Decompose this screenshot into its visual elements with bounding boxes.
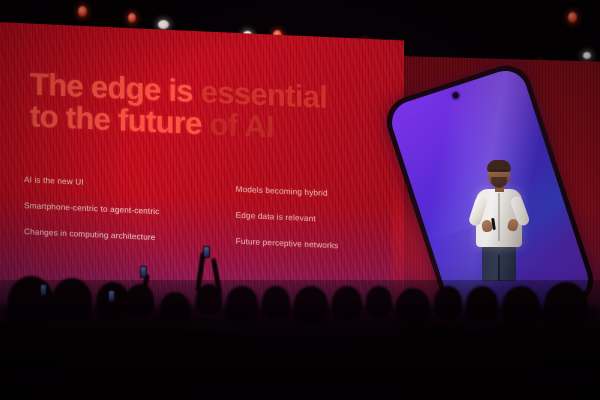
headline-line2-bright: to the future: [30, 98, 202, 141]
bullet-item: Smartphone-centric to agent-centric: [24, 201, 218, 219]
slide-headline: The edge is essential to the future of A…: [30, 68, 360, 147]
stage-light-red: [78, 6, 87, 17]
bullet-item: Edge data is relevant: [236, 211, 374, 226]
bullet-item: Models becoming hybrid: [236, 185, 374, 200]
stage-light-red: [568, 12, 577, 23]
glasses-icon: [489, 170, 509, 176]
headline-line2-dim: of AI: [202, 106, 274, 144]
keynote-stage-photo: The edge is essential to the future of A…: [0, 0, 600, 400]
bullet-item: AI is the new UI: [24, 175, 218, 193]
stage-light-white: [583, 52, 591, 59]
stage-light-red: [128, 13, 136, 23]
bullet-item: Changes in computing architecture: [24, 227, 218, 245]
bullet-column-right: Models becoming hybrid Edge data is rele…: [236, 185, 374, 252]
stage-light-white: [158, 20, 169, 29]
slide-bullet-area: AI is the new UI Smartphone-centric to a…: [24, 175, 374, 252]
bullet-item: Future perceptive networks: [236, 237, 374, 252]
stage-floor: [0, 280, 600, 400]
bullet-column-left: AI is the new UI Smartphone-centric to a…: [24, 175, 218, 245]
presenter-beard: [491, 177, 507, 188]
keynote-presenter: [462, 162, 538, 280]
presenter-legs: [482, 245, 516, 281]
